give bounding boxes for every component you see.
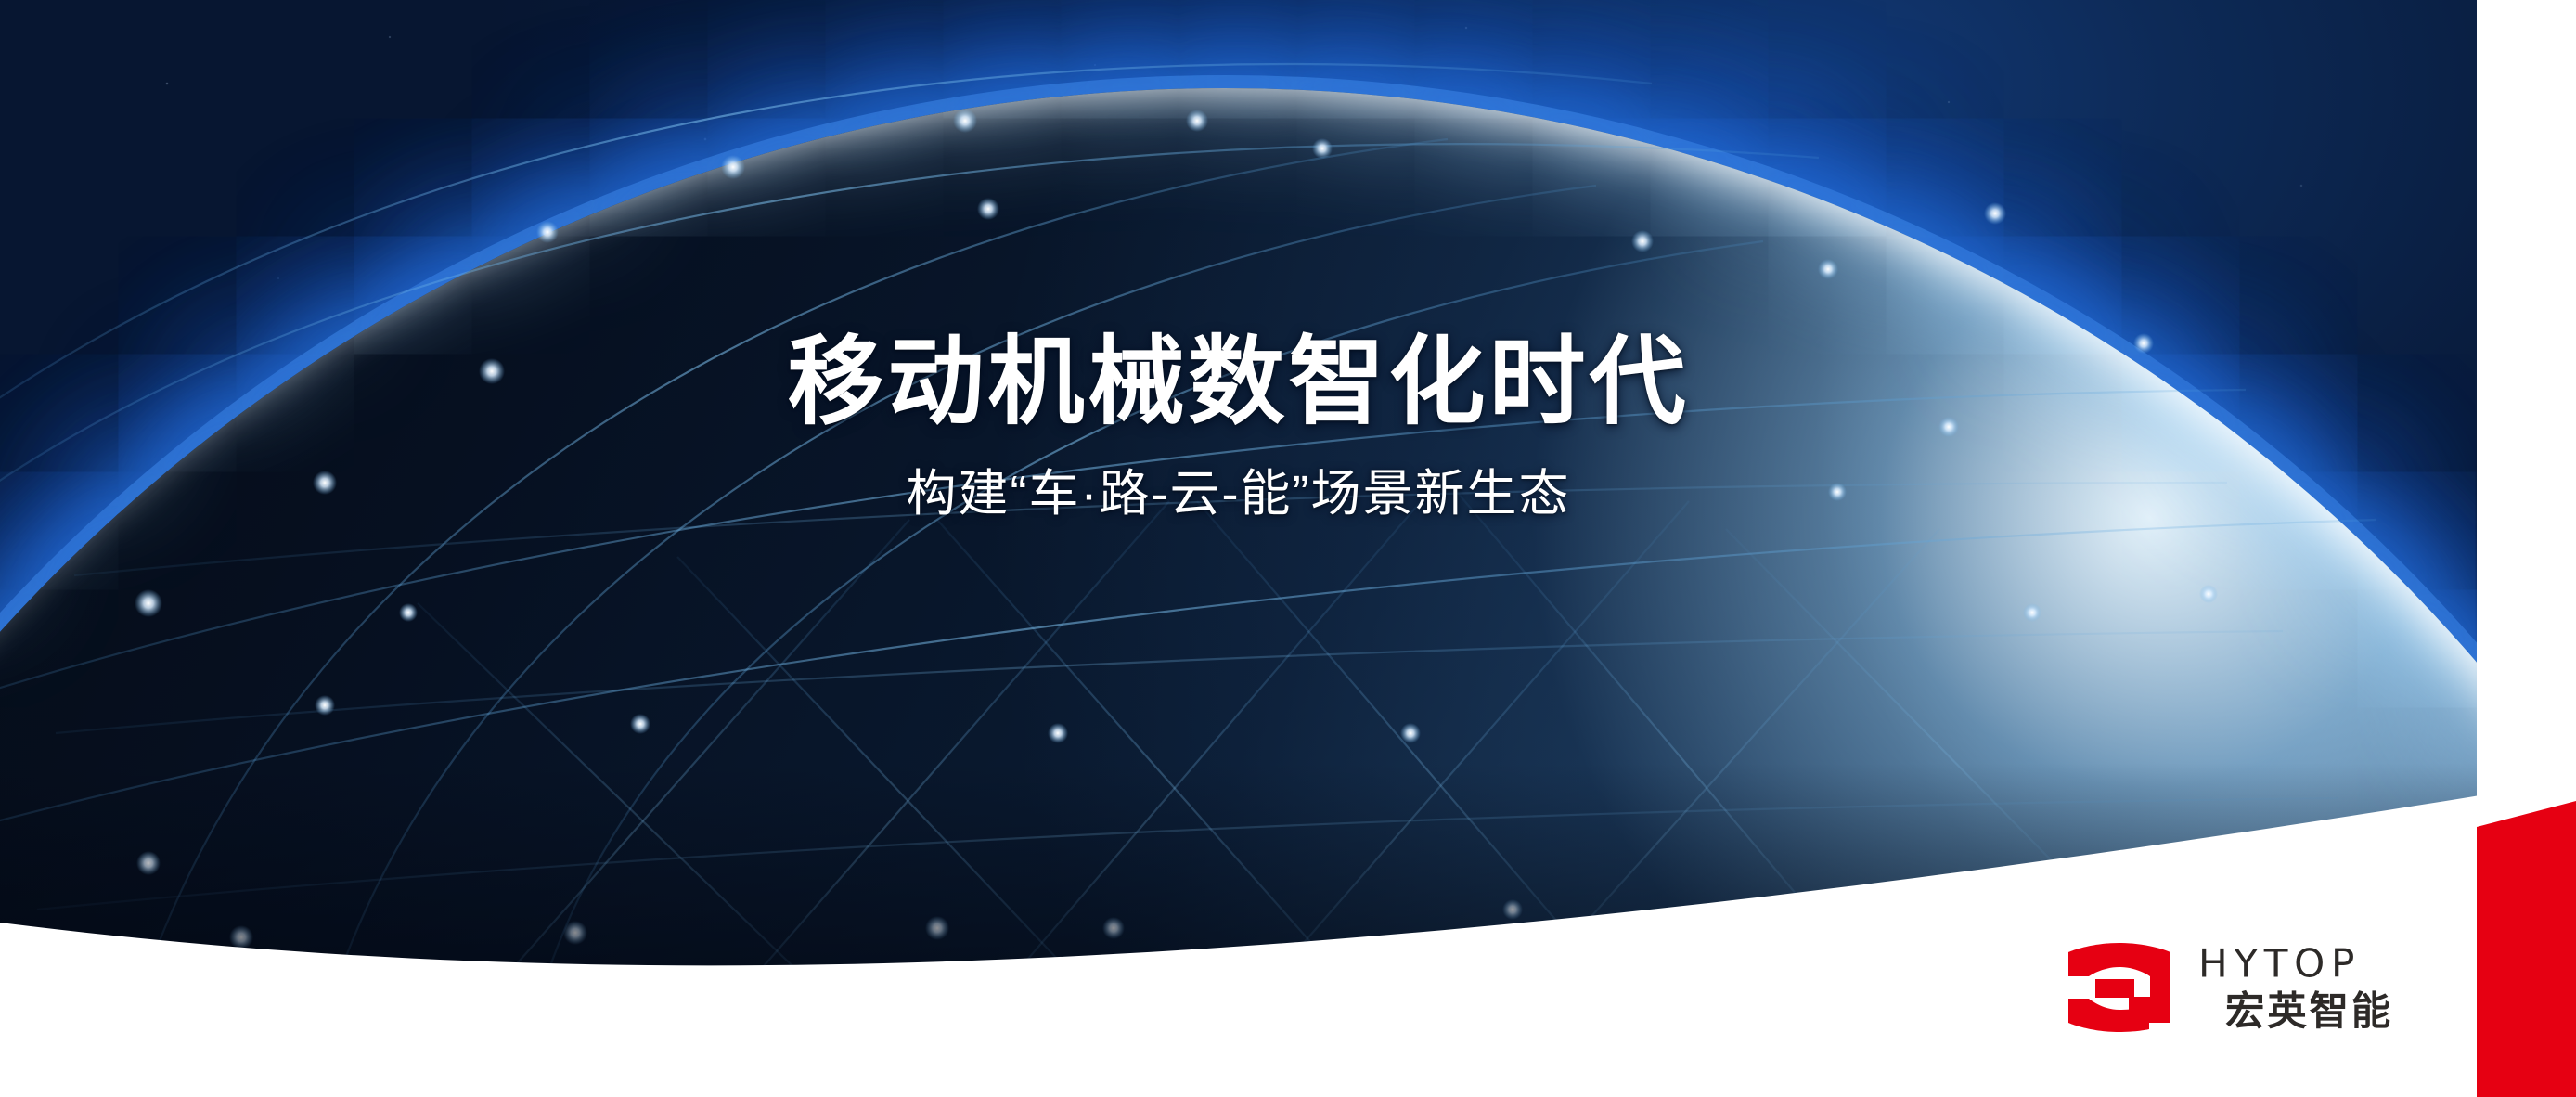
hytop-logo-mark bbox=[2065, 939, 2174, 1036]
logo-latin-name: HYTOP bbox=[2198, 944, 2465, 985]
logo-latin-text: HYTOP bbox=[2198, 944, 2361, 985]
logo-wordmark: HYTOP 宏英智能 bbox=[2198, 944, 2465, 1031]
hytop-logo: HYTOP 宏英智能 bbox=[2065, 939, 2465, 1036]
logo-chinese-text: 宏英智能 bbox=[2225, 989, 2393, 1033]
title-slide: 移动机械数智化时代 构建“车·路-云-能”场景新生态 HYTOP 宏英智能 bbox=[0, 0, 2576, 1097]
logo-chinese-name: 宏英智能 bbox=[2198, 988, 2465, 1031]
bottom-vignette bbox=[0, 763, 2477, 1097]
background-artwork bbox=[0, 0, 2477, 1097]
red-accent-bar bbox=[2477, 766, 2576, 1097]
